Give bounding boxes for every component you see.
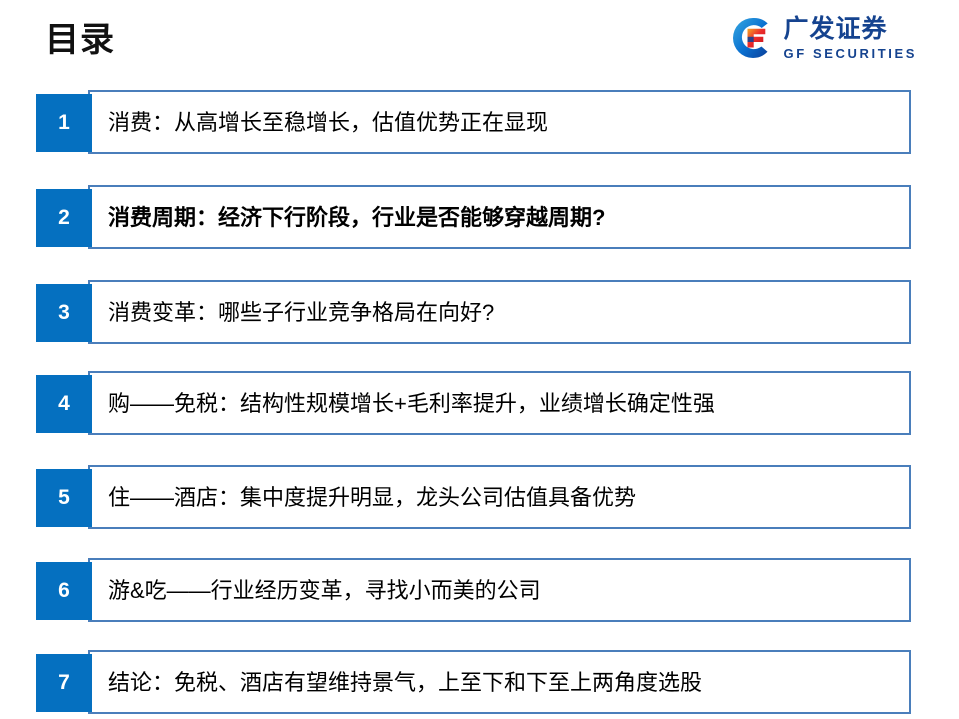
- toc-number-badge: 2: [36, 189, 92, 247]
- toc-number-badge: 3: [36, 284, 92, 342]
- toc-item-label[interactable]: 消费周期：经济下行阶段，行业是否能够穿越周期?: [108, 185, 605, 251]
- toc-number-badge: 6: [36, 562, 92, 620]
- toc-row-4[interactable]: 4 购——免税：结构性规模增长+毛利率提升，业绩增长确定性强: [36, 371, 911, 437]
- toc-item-label[interactable]: 住——酒店：集中度提升明显，龙头公司估值具备优势: [108, 465, 636, 531]
- logo-wordmark: 广发证券 GF SECURITIES: [784, 17, 917, 60]
- toc-row-6[interactable]: 6 游&吃——行业经历变革，寻找小而美的公司: [36, 558, 911, 624]
- toc-item-label[interactable]: 游&吃——行业经历变革，寻找小而美的公司: [108, 558, 541, 624]
- gf-circle-f-logo-icon: [731, 16, 775, 60]
- company-logo: 广发证券 GF SECURITIES: [731, 12, 917, 64]
- toc-number-badge: 4: [36, 375, 92, 433]
- page-title: 目录: [45, 18, 115, 62]
- toc-item-label[interactable]: 购——免税：结构性规模增长+毛利率提升，业绩增长确定性强: [108, 371, 715, 437]
- toc-number-badge: 1: [36, 94, 92, 152]
- toc-number-badge: 7: [36, 654, 92, 712]
- logo-name-en: GF SECURITIES: [784, 47, 917, 60]
- toc-row-7[interactable]: 7 结论：免税、酒店有望维持景气，上至下和下至上两角度选股: [36, 650, 911, 716]
- toc-item-label[interactable]: 结论：免税、酒店有望维持景气，上至下和下至上两角度选股: [108, 650, 702, 716]
- slide-header: 目录: [0, 0, 959, 80]
- toc-item-label[interactable]: 消费变革：哪些子行业竞争格局在向好?: [108, 280, 494, 346]
- toc-item-label[interactable]: 消费：从高增长至稳增长，估值优势正在显现: [108, 90, 548, 156]
- toc-row-1[interactable]: 1 消费：从高增长至稳增长，估值优势正在显现: [36, 90, 911, 156]
- toc-row-5[interactable]: 5 住——酒店：集中度提升明显，龙头公司估值具备优势: [36, 465, 911, 531]
- toc-row-2[interactable]: 2 消费周期：经济下行阶段，行业是否能够穿越周期?: [36, 185, 911, 251]
- toc-row-3[interactable]: 3 消费变革：哪些子行业竞争格局在向好?: [36, 280, 911, 346]
- logo-name-cn: 广发证券: [784, 17, 917, 42]
- toc-number-badge: 5: [36, 469, 92, 527]
